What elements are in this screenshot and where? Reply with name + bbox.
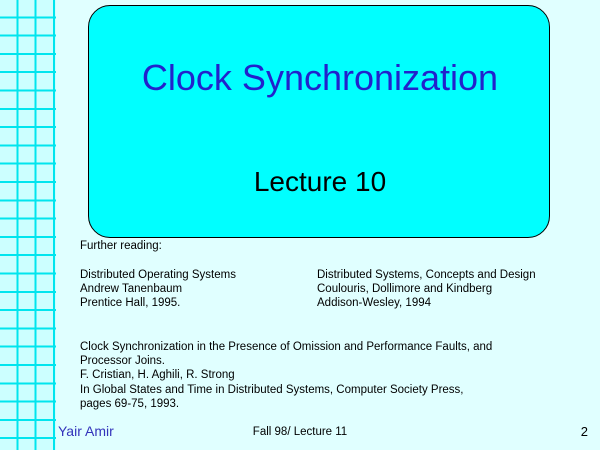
further-reading-label: Further reading: bbox=[80, 239, 162, 253]
footer-page-number: 2 bbox=[581, 424, 588, 440]
slide-subtitle: Lecture 10 bbox=[89, 166, 551, 198]
reference-block-bottom: Clock Synchronization in the Presence of… bbox=[80, 340, 492, 411]
reference-column-left: Distributed Operating Systems Andrew Tan… bbox=[80, 268, 236, 311]
reference-column-right: Distributed Systems, Concepts and Design… bbox=[317, 268, 536, 311]
decorative-grid-pattern bbox=[0, 0, 56, 450]
presentation-slide: Clock Synchronization Lecture 10 Further… bbox=[0, 0, 600, 450]
footer-course-label: Fall 98/ Lecture 11 bbox=[0, 425, 600, 439]
title-callout-box: Clock Synchronization Lecture 10 bbox=[88, 5, 550, 238]
grid-edge-mask bbox=[56, 0, 60, 450]
page-title: Clock Synchronization bbox=[89, 58, 551, 98]
